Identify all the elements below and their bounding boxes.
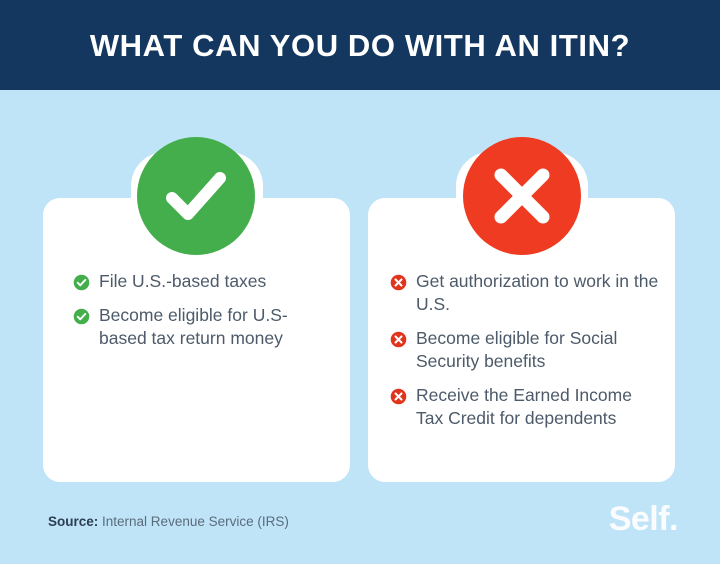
- can-do-list: File U.S.-based taxes Become eligible fo…: [43, 270, 350, 361]
- list-item-text: File U.S.-based taxes: [99, 270, 266, 293]
- x-circle-icon: [463, 137, 581, 255]
- header-band: WHAT CAN YOU DO WITH AN ITIN?: [0, 0, 720, 90]
- list-item-text: Receive the Earned Income Tax Credit for…: [416, 384, 661, 430]
- source-value: Internal Revenue Service (IRS): [102, 514, 289, 529]
- self-brand-logo: Self.: [609, 500, 678, 539]
- cannot-do-list: Get authorization to work in the U.S. Be…: [368, 270, 675, 441]
- x-circle-small-icon: [390, 331, 407, 348]
- list-item: File U.S.-based taxes: [73, 270, 328, 293]
- list-item: Become eligible for U.S-based tax return…: [73, 304, 328, 350]
- list-item: Become eligible for Social Security bene…: [390, 327, 661, 373]
- page-title: WHAT CAN YOU DO WITH AN ITIN?: [90, 30, 630, 61]
- x-circle-small-icon: [390, 388, 407, 405]
- source-label: Source:: [48, 514, 98, 529]
- list-item: Get authorization to work in the U.S.: [390, 270, 661, 316]
- footer: Source: Internal Revenue Service (IRS) S…: [0, 490, 720, 564]
- check-circle-small-icon: [73, 274, 90, 291]
- list-item: Receive the Earned Income Tax Credit for…: [390, 384, 661, 430]
- infographic-root: WHAT CAN YOU DO WITH AN ITIN? File U.S.-…: [0, 0, 720, 564]
- check-circle-icon: [137, 137, 255, 255]
- cards-region: File U.S.-based taxes Become eligible fo…: [0, 90, 720, 490]
- list-item-text: Become eligible for U.S-based tax return…: [99, 304, 328, 350]
- list-item-text: Get authorization to work in the U.S.: [416, 270, 661, 316]
- source-attribution: Source: Internal Revenue Service (IRS): [48, 514, 289, 529]
- list-item-text: Become eligible for Social Security bene…: [416, 327, 661, 373]
- check-circle-small-icon: [73, 308, 90, 325]
- x-circle-small-icon: [390, 274, 407, 291]
